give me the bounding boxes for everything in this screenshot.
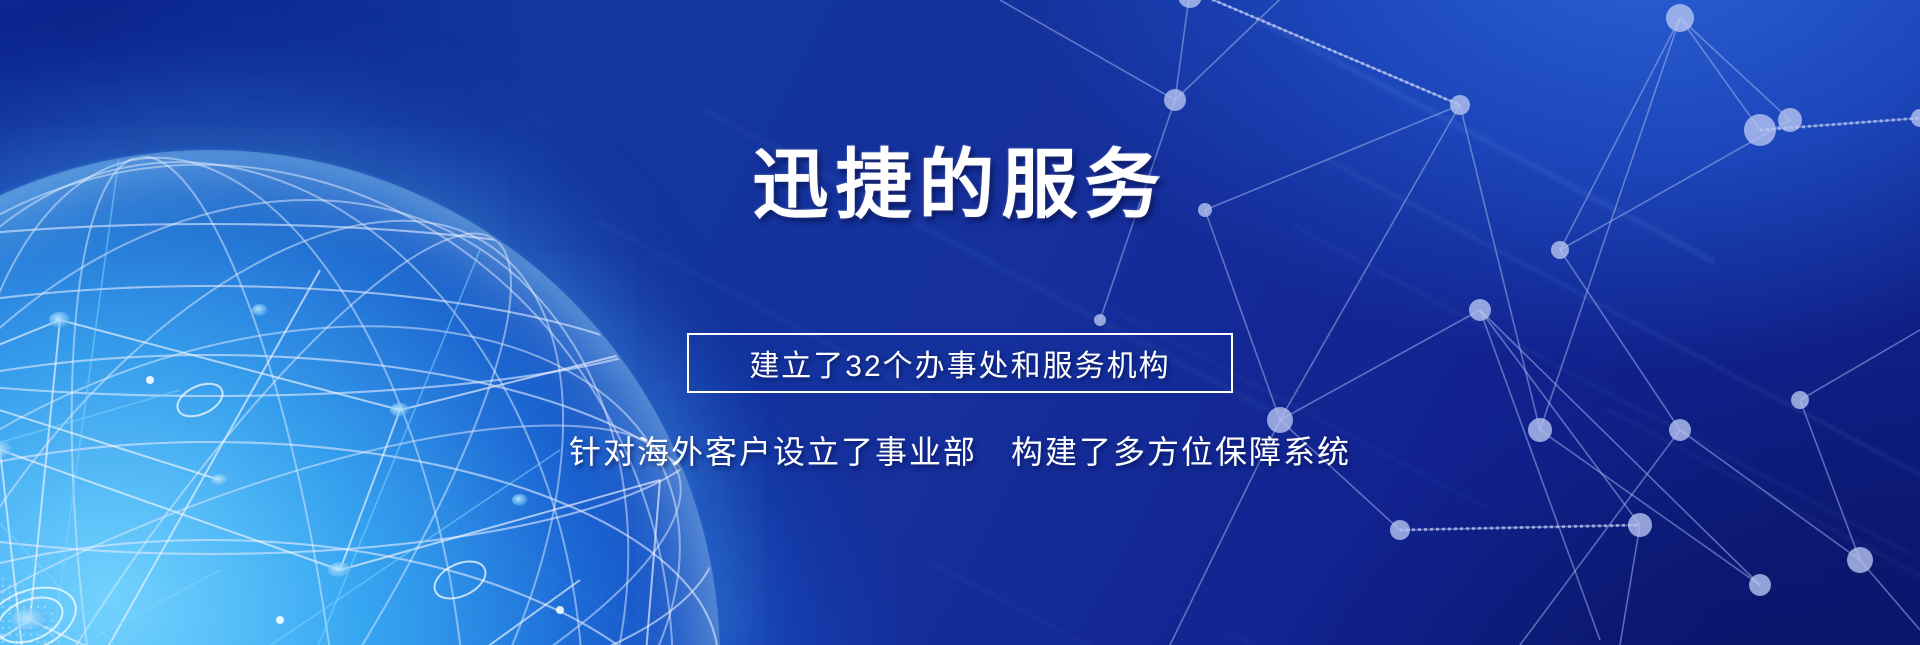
highlight-box: 建立了32个办事处和服务机构 (687, 333, 1233, 393)
page-title: 迅捷的服务 (753, 148, 1168, 224)
highlight-box-label: 建立了32个办事处和服务机构 (749, 341, 1170, 385)
banner-content: 迅捷的服务 建立了32个办事处和服务机构 针对海外客户设立了事业部 构建了多方位… (0, 0, 1920, 645)
hero-banner: 迅捷的服务 建立了32个办事处和服务机构 针对海外客户设立了事业部 构建了多方位… (0, 0, 1920, 645)
tagline: 针对海外客户设立了事业部 构建了多方位保障系统 (569, 427, 1351, 473)
